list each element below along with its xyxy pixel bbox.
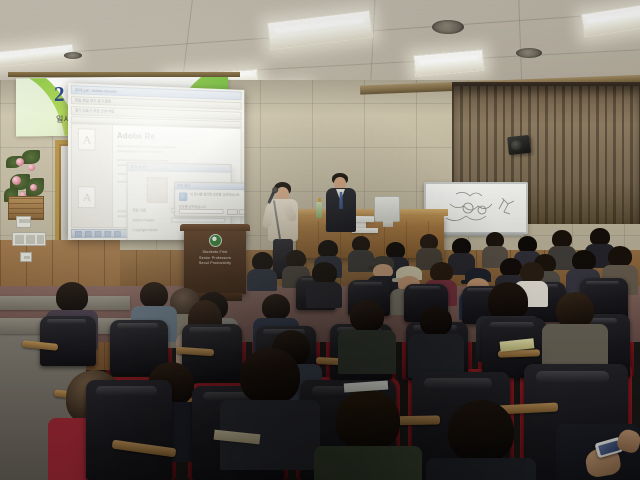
- ok-button[interactable]: [227, 209, 238, 214]
- taskbar-item[interactable]: [95, 231, 102, 237]
- podium-line-3: Seoul Productivity: [190, 261, 240, 267]
- dialog1-title: 문서 속성: [128, 163, 231, 173]
- wall-outlet[interactable]: [20, 252, 32, 262]
- projection-screen: 문서.pdf - Adobe Reader 파일 편집 보기 창 도움말 열기 …: [68, 83, 244, 240]
- university-emblem-icon: [209, 234, 222, 247]
- ceiling-vent: [64, 52, 82, 59]
- password-prompt-dialog[interactable]: 보안 경고 이 문서를 열려면 암호를 입력하십시오. 암호를 입력하십시오:: [174, 182, 244, 217]
- app-menu-text: 파일 편집 보기 창 도움말: [75, 98, 111, 104]
- app-title-text: 문서.pdf - Adobe Reader: [75, 87, 117, 95]
- document-heading: Adobe Re: [117, 131, 155, 141]
- wall-speaker-icon: [507, 135, 531, 155]
- banner-number: 2: [54, 82, 65, 107]
- taskbar-item[interactable]: [85, 231, 92, 237]
- cancel-button[interactable]: [239, 209, 244, 214]
- lectern-podium: Students First Senior Professors Seoul P…: [184, 228, 246, 294]
- lecture-hall-photo: 2 술대회 일시 대구경북지회 문서.pdf - Adobe Reader 파일…: [0, 0, 640, 480]
- ceiling-light: [267, 10, 374, 50]
- document-canvas: Adobe Re 문서 속성 파일 이름: Adobe Reader Copyr…: [71, 123, 242, 228]
- ceiling-light: [581, 2, 640, 37]
- dialog1-label-2: Adobe Reader: [132, 218, 154, 222]
- dialog1-thumbnail: [147, 177, 168, 203]
- light-switch-panel[interactable]: [12, 232, 46, 246]
- dialog1-field-2[interactable]: [171, 218, 225, 223]
- taskbar-item[interactable]: [114, 231, 121, 237]
- podium-text: Students First Senior Professors Seoul P…: [190, 250, 240, 267]
- info-icon: [179, 192, 187, 201]
- desk-monitor: [374, 196, 400, 222]
- dialog2-title: 보안 경고: [175, 183, 244, 191]
- taskbar-item[interactable]: [104, 231, 111, 237]
- ceiling-light: [413, 49, 485, 77]
- ceiling-vent: [432, 20, 464, 34]
- password-input[interactable]: [179, 209, 223, 214]
- auditorium-seat[interactable]: [86, 380, 172, 480]
- projected-application: 문서.pdf - Adobe Reader 파일 편집 보기 창 도움말 열기 …: [68, 83, 244, 240]
- pdf-file-icon: [78, 128, 96, 150]
- taskbar-start-button[interactable]: [75, 231, 82, 237]
- dialog1-label-3: Copyright Adobe: [132, 228, 157, 232]
- dialog2-message: 이 문서를 열려면 암호를 입력하십시오.: [190, 192, 244, 197]
- pdf-file-icon: [78, 186, 96, 208]
- dialog1-label-1: 파일 이름:: [132, 208, 147, 213]
- app-toolbar-secondary-text: [75, 118, 76, 122]
- app-toolbar-text: 열기 만들기 저장 인쇄 메일: [75, 108, 115, 114]
- ceiling-vent: [516, 48, 542, 58]
- presenter-in-suit: [322, 173, 362, 231]
- auditorium-seat[interactable]: [40, 316, 96, 366]
- banner-mounting-rail: [8, 72, 240, 77]
- thermostat-panel[interactable]: [16, 216, 31, 228]
